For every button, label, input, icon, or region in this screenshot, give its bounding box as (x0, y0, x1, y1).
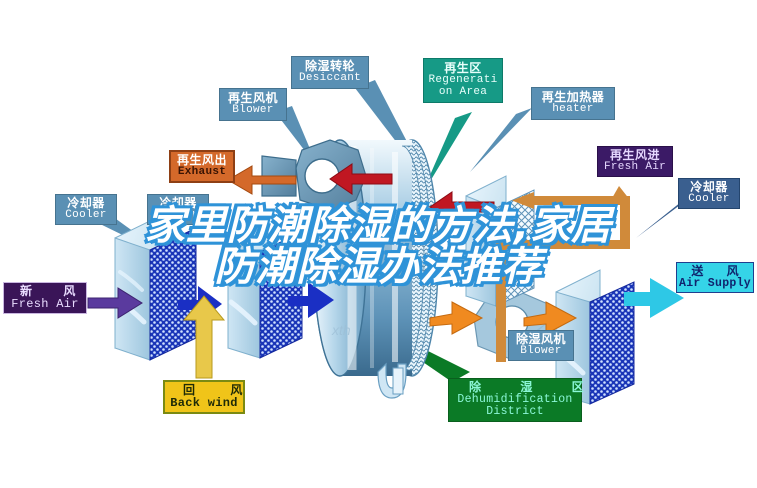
label-cooler-right-cn: 冷却器 (681, 181, 737, 194)
label-dehum-district-en2: District (451, 406, 579, 418)
label-cooler-left-a-cn: 冷却器 (58, 197, 114, 210)
cooler-coil-2 (228, 220, 302, 358)
label-regen-fresh-air[interactable]: 再生风进 Fresh Air (597, 146, 673, 177)
label-cooler-left-b[interactable]: 冷却器 Cooler (147, 194, 209, 225)
label-cooler-left-b-en: Cooler (150, 210, 206, 222)
label-exhaust-cn: 再生风出 (173, 154, 231, 167)
label-regen-blower-en: Blower (222, 105, 284, 117)
label-desiccant[interactable]: 除湿转轮 Desiccant (291, 56, 369, 89)
cooler-coil-1 (115, 216, 196, 360)
diagram-canvas: xth 除湿转轮 Desiccant 再生风机 Blower 再生区 Regen… (0, 0, 757, 488)
label-exhaust[interactable]: 再生风出 Exhaust (169, 150, 235, 183)
label-fresh-air[interactable]: 新 风 Fresh Air (3, 282, 87, 314)
label-air-supply[interactable]: 送 风 Air Supply (676, 262, 754, 293)
dry-air-arrow-1 (430, 302, 482, 334)
dehumidifier-schematic-svg (0, 0, 757, 488)
label-regen-blower-cn: 再生风机 (222, 92, 284, 105)
label-regen-heater[interactable]: 再生加热器 heater (531, 87, 615, 120)
label-regen-heater-cn: 再生加热器 (534, 91, 612, 104)
label-back-wind[interactable]: 回 风 Back wind (163, 380, 245, 414)
label-dehum-blower-en: Blower (511, 346, 571, 358)
label-cooler-left-a[interactable]: 冷却器 Cooler (55, 194, 117, 225)
label-desiccant-en: Desiccant (294, 73, 366, 85)
label-exhaust-en: Exhaust (173, 167, 231, 179)
label-cooler-left-b-cn: 冷却器 (150, 197, 206, 210)
label-regen-heater-en: heater (534, 104, 612, 116)
label-dehum-district-cn: 除 湿 区 (451, 381, 579, 394)
label-dehum-blower-cn: 除湿风机 (511, 333, 571, 346)
label-cooler-right[interactable]: 冷却器 Cooler (678, 178, 740, 209)
label-regen-area[interactable]: 再生区 Regenerati on Area (423, 58, 503, 103)
label-fresh-air-cn: 新 风 (6, 285, 84, 298)
label-regen-fresh-air-cn: 再生风进 (600, 149, 670, 162)
label-fresh-air-en: Fresh Air (6, 298, 84, 311)
label-air-supply-cn: 送 风 (679, 265, 751, 278)
label-cooler-right-en: Cooler (681, 194, 737, 206)
label-dehum-district[interactable]: 除 湿 区 Dehumidification District (448, 378, 582, 422)
label-air-supply-en: Air Supply (679, 278, 751, 290)
label-back-wind-cn: 回 风 (167, 384, 241, 397)
label-dehum-blower[interactable]: 除湿风机 Blower (508, 330, 574, 361)
label-regen-blower[interactable]: 再生风机 Blower (219, 88, 287, 121)
label-regen-area-en2: on Area (426, 87, 500, 99)
label-back-wind-en: Back wind (167, 397, 241, 410)
label-cooler-left-a-en: Cooler (58, 210, 114, 222)
watermark: xth (332, 322, 351, 338)
label-desiccant-cn: 除湿转轮 (294, 60, 366, 73)
label-regen-area-cn: 再生区 (426, 62, 500, 75)
label-regen-fresh-air-en: Fresh Air (600, 162, 670, 174)
